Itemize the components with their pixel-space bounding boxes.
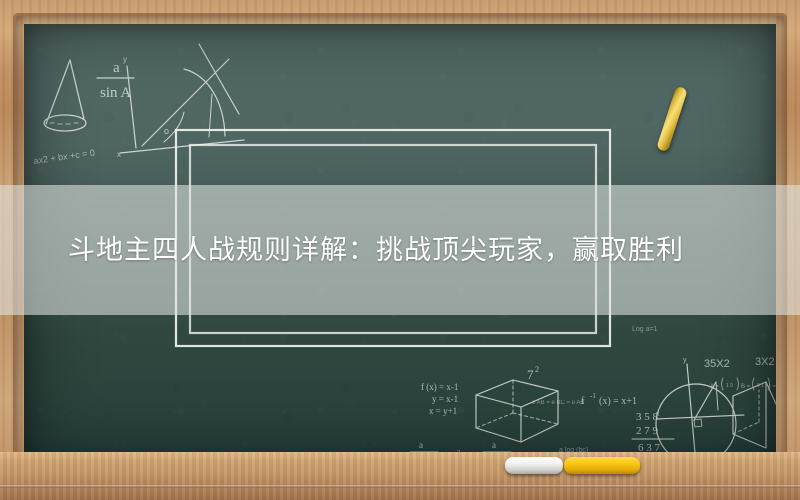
white-chalk-piece bbox=[505, 457, 563, 474]
page-title: 斗地主四人战规则详解：挑战顶尖玩家，赢取胜利 bbox=[68, 185, 768, 315]
chalkboard-poster: a sin A ax2 + bx +c = 0 bbox=[0, 0, 800, 500]
ledge-lip bbox=[0, 485, 800, 488]
yellow-chalk-piece bbox=[564, 457, 640, 474]
chalk-tray-ledge bbox=[0, 452, 800, 500]
